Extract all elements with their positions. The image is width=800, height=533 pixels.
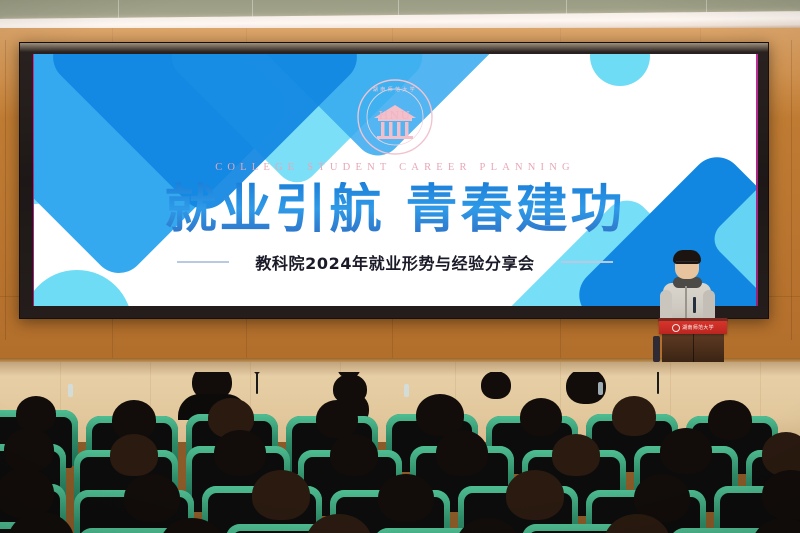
audience-head	[0, 468, 54, 518]
microphone-stand	[256, 372, 258, 394]
auditorium-photo: HNU 湖南师范大学 COLLEGE STUDENT CAREER PLANNI…	[0, 0, 800, 533]
water-bottle	[598, 382, 603, 395]
wall-seam-right	[791, 40, 792, 340]
audience-head	[552, 434, 600, 476]
audience-head	[316, 400, 358, 438]
podium: 湖南师范大学	[658, 318, 728, 362]
podium-banner-text: 湖南师范大学	[682, 324, 714, 331]
svg-text:湖南师范大学: 湖南师范大学	[373, 86, 417, 93]
podium-crest-icon	[672, 324, 680, 332]
audience-head	[214, 430, 266, 476]
projection-screen: HNU 湖南师范大学 COLLEGE STUDENT CAREER PLANNI…	[19, 42, 769, 319]
audience-head	[612, 396, 656, 436]
audience-head	[520, 398, 562, 436]
water-bottle	[68, 384, 73, 397]
slide-subtitle-row: 教科院2024年就业形势与经验分享会	[34, 250, 756, 274]
audience-head	[506, 470, 564, 520]
audience-area	[0, 372, 800, 533]
audience-head	[481, 372, 511, 399]
speaker-figure	[659, 250, 715, 328]
audience-head	[330, 434, 378, 476]
microphone-icon	[693, 297, 696, 313]
wall-seam-left	[5, 40, 6, 340]
audience-head	[110, 434, 158, 476]
divider-dash-left	[177, 261, 229, 263]
slide-headline: 就业引航 青春建功	[34, 182, 756, 238]
podium-panel-seam	[693, 334, 694, 362]
screen-edge-right	[756, 54, 758, 306]
audience-head	[4, 428, 54, 472]
audience-head	[252, 470, 310, 520]
screen-bezel-glare	[20, 43, 768, 52]
slide-canvas: HNU 湖南师范大学 COLLEGE STUDENT CAREER PLANNI…	[34, 54, 756, 306]
audience-head	[16, 396, 56, 432]
audience-head	[660, 428, 712, 474]
audience-head	[436, 430, 488, 476]
microphone-stand	[657, 372, 659, 394]
podium-banner: 湖南师范大学	[659, 321, 727, 334]
university-seal-logo: HNU 湖南师范大学	[356, 78, 434, 156]
water-bottle	[404, 384, 409, 397]
audience-head	[378, 474, 434, 522]
divider-dash-right	[561, 261, 613, 263]
audience-head	[708, 400, 752, 440]
svg-text:HNU: HNU	[379, 109, 412, 122]
eyeglasses-icon	[676, 261, 698, 265]
audience-head	[124, 474, 180, 522]
slide-eyebrow-text: COLLEGE STUDENT CAREER PLANNING	[34, 162, 756, 173]
slide-subtitle: 教科院2024年就业形势与经验分享会	[255, 250, 534, 274]
podium-leg	[653, 336, 660, 362]
